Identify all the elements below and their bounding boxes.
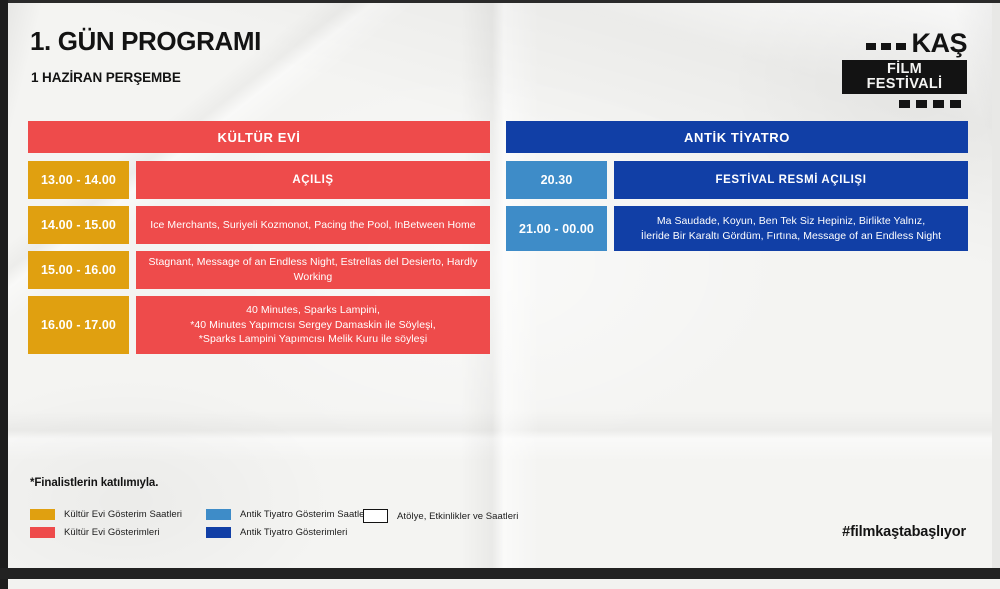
slot-content-text: Ice Merchants, Suriyeli Kozmonot, Pacing…	[150, 218, 475, 233]
schedule-row: 20.30FESTİVAL RESMİ AÇILIŞI	[506, 161, 968, 199]
legend-label: Antik Tiyatro Gösterim Saatleri	[240, 509, 370, 520]
bottom-white-strip	[0, 579, 1000, 589]
dash-icon	[899, 100, 910, 108]
legend-swatch	[30, 509, 55, 520]
hashtag: #filmkaştabaşlıyor	[842, 524, 966, 540]
legend-label: Antik Tiyatro Gösterimleri	[240, 527, 347, 538]
slot-content-text: FESTİVAL RESMİ AÇILIŞI	[716, 172, 867, 188]
legend-item: Kültür Evi Gösterim Saatleri	[30, 509, 206, 520]
slot-content-text: 40 Minutes, Sparks Lampini,*40 Minutes Y…	[190, 303, 435, 348]
page-title: 1. GÜN PROGRAMI	[30, 28, 261, 54]
legend-swatch	[30, 527, 55, 538]
logo-dashes-bottom	[842, 100, 967, 108]
slot-content-text: Stagnant, Message of an Endless Night, E…	[146, 255, 480, 285]
paper-sheet: 1. GÜN PROGRAMI 1 HAZİRAN PERŞEMBE KAŞ F…	[8, 3, 992, 569]
logo-subtitle-bar: FİLM FESTİVALİ	[842, 60, 967, 94]
legend-swatch	[206, 527, 231, 538]
legend-group: Antik Tiyatro Gösterim SaatleriAntik Tiy…	[206, 509, 363, 538]
schedule-row: 15.00 - 16.00Stagnant, Message of an End…	[28, 251, 490, 289]
dash-icon	[933, 100, 944, 108]
slot-content: AÇILIŞ	[136, 161, 490, 199]
legend-item: Atölye, Etkinlikler ve Saatleri	[363, 509, 563, 523]
festival-logo: KAŞ FİLM FESTİVALİ	[842, 28, 967, 96]
slot-time: 15.00 - 16.00	[28, 251, 129, 289]
right-edge-strip	[992, 0, 1000, 589]
dash-icon	[950, 100, 961, 108]
legend-swatch	[206, 509, 231, 520]
slot-content: Ice Merchants, Suriyeli Kozmonot, Pacing…	[136, 206, 490, 244]
legend-group: Kültür Evi Gösterim SaatleriKültür Evi G…	[30, 509, 206, 538]
poster-content: 1. GÜN PROGRAMI 1 HAZİRAN PERŞEMBE KAŞ F…	[8, 3, 992, 569]
slot-content: FESTİVAL RESMİ AÇILIŞI	[614, 161, 968, 199]
schedule-row: 14.00 - 15.00Ice Merchants, Suriyeli Koz…	[28, 206, 490, 244]
slot-time: 13.00 - 14.00	[28, 161, 129, 199]
logo-wordmark: KAŞ	[911, 32, 967, 55]
legend-group: Atölye, Etkinlikler ve Saatleri	[363, 509, 563, 538]
legend-label: Kültür Evi Gösterim Saatleri	[64, 509, 182, 520]
footnote: *Finalistlerin katılımıyla.	[30, 477, 158, 489]
dash-icon	[866, 43, 876, 50]
legend-item: Antik Tiyatro Gösterimleri	[206, 527, 363, 538]
slot-time: 21.00 - 00.00	[506, 206, 607, 251]
slot-time: 20.30	[506, 161, 607, 199]
left-edge-strip	[0, 0, 8, 589]
legend-item: Kültür Evi Gösterimleri	[30, 527, 206, 538]
legend-item: Antik Tiyatro Gösterim Saatleri	[206, 509, 363, 520]
dash-icon	[916, 100, 927, 108]
schedule-row: 21.00 - 00.00Ma Saudade, Koyun, Ben Tek …	[506, 206, 968, 251]
page-subtitle: 1 HAZİRAN PERŞEMBE	[31, 71, 181, 85]
slot-content-text: Ma Saudade, Koyun, Ben Tek Siz Hepiniz, …	[641, 214, 941, 244]
slot-time: 16.00 - 17.00	[28, 296, 129, 354]
slot-content: Stagnant, Message of an Endless Night, E…	[136, 251, 490, 289]
logo-dashes-top	[866, 43, 906, 50]
slot-content: 40 Minutes, Sparks Lampini,*40 Minutes Y…	[136, 296, 490, 354]
slot-time: 14.00 - 15.00	[28, 206, 129, 244]
legend: Kültür Evi Gösterim SaatleriKültür Evi G…	[30, 509, 563, 538]
schedule-row: 16.00 - 17.0040 Minutes, Sparks Lampini,…	[28, 296, 490, 354]
logo-top-row: KAŞ	[842, 28, 967, 55]
slot-content: Ma Saudade, Koyun, Ben Tek Siz Hepiniz, …	[614, 206, 968, 251]
schedule-row: 13.00 - 14.00AÇILIŞ	[28, 161, 490, 199]
slot-content-text: AÇILIŞ	[292, 172, 333, 188]
dash-icon	[881, 43, 891, 50]
dash-icon	[896, 43, 906, 50]
venue-column-kultur-evi: KÜLTÜR EVİ13.00 - 14.00AÇILIŞ14.00 - 15.…	[28, 121, 490, 361]
venue-header: KÜLTÜR EVİ	[28, 121, 490, 153]
top-edge-strip	[0, 0, 1000, 3]
legend-swatch	[363, 509, 388, 523]
legend-label: Kültür Evi Gösterimleri	[64, 527, 160, 538]
venue-header: ANTİK TİYATRO	[506, 121, 968, 153]
bottom-edge-band	[0, 568, 1000, 579]
legend-label: Atölye, Etkinlikler ve Saatleri	[397, 511, 518, 522]
poster-canvas: 1. GÜN PROGRAMI 1 HAZİRAN PERŞEMBE KAŞ F…	[0, 0, 1000, 589]
venue-column-antik-tiyatro: ANTİK TİYATRO20.30FESTİVAL RESMİ AÇILIŞI…	[506, 121, 968, 258]
